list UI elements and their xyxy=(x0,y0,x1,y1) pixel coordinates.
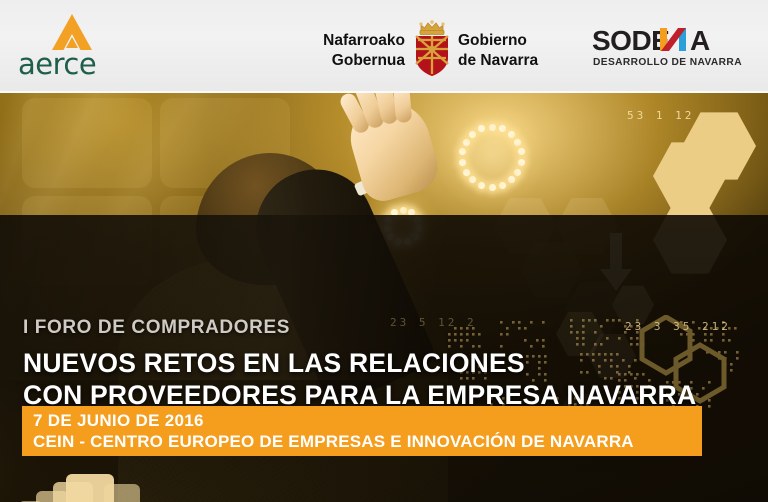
gn-basque-text: Nafarroako Gobernua xyxy=(313,31,405,71)
event-date: 7 DE JUNIO DE 2016 xyxy=(33,411,204,431)
navarra-coat-of-arms-icon xyxy=(410,18,454,76)
numbers-top: 53 1 12 xyxy=(627,109,694,122)
numbers-mid: 23 5 12 2 xyxy=(390,316,477,329)
glow-dot xyxy=(469,131,476,138)
aerce-wordmark: aerce xyxy=(18,47,128,81)
glow-dot xyxy=(463,169,470,176)
svg-text:SODE: SODE xyxy=(592,26,669,56)
glow-dot xyxy=(514,169,521,176)
glow-dot xyxy=(469,176,476,183)
event-details-banner: 7 DE JUNIO DE 2016 CEIN - CENTRO EUROPEO… xyxy=(22,406,702,456)
aerce-logo: aerce xyxy=(18,14,128,80)
glow-dot xyxy=(499,182,506,189)
poster-title: NUEVOS RETOS EN LAS RELACIONES CON PROVE… xyxy=(23,348,696,412)
glowing-dot-ring xyxy=(458,123,526,191)
gn-line2-right: de Navarra xyxy=(458,51,568,71)
sponsor-header: aerce Nafarroako Gobernua xyxy=(0,0,768,93)
sodena-logo: SODE A DESARROLLO DE NAVARRA xyxy=(592,26,744,74)
glow-dot xyxy=(459,148,466,155)
svg-text:A: A xyxy=(690,26,710,56)
gobierno-navarra-logo: Nafarroako Gobernua xyxy=(313,18,553,78)
crown xyxy=(419,20,444,34)
glow-dot xyxy=(459,159,466,166)
sodena-tagline: DESARROLLO DE NAVARRA xyxy=(593,57,745,68)
finger xyxy=(393,93,412,123)
poster-title-line1: NUEVOS RETOS EN LAS RELACIONES xyxy=(23,348,696,380)
glow-dot xyxy=(518,148,525,155)
glow-dot xyxy=(499,125,506,132)
glow-dot xyxy=(489,184,496,191)
glow-dot xyxy=(508,131,515,138)
glow-dot xyxy=(514,139,521,146)
gn-line1-right: Gobierno xyxy=(458,31,568,51)
aerce-triangle-icon xyxy=(52,14,92,50)
event-poster: 53 1 12 23 5 12 2 23 3 35 212 I FORO DE … xyxy=(0,0,768,502)
poster-photo: 53 1 12 23 5 12 2 23 3 35 212 I FORO DE … xyxy=(0,93,768,502)
speech-bubble xyxy=(104,484,140,502)
glow-dot xyxy=(478,182,485,189)
poster-kicker: I FORO DE COMPRADORES xyxy=(23,317,290,339)
glow-dot xyxy=(489,124,496,131)
glow-dot xyxy=(518,159,525,166)
gn-line2-left: Gobernua xyxy=(313,51,405,71)
event-venue: CEIN - CENTRO EUROPEO DE EMPRESAS E INNO… xyxy=(33,432,634,452)
glow-dot xyxy=(478,125,485,132)
gn-line1-left: Nafarroako xyxy=(313,31,405,51)
glow-dot xyxy=(463,139,470,146)
numbers-bottom: 23 3 35 212 xyxy=(625,320,731,333)
sodena-wordmark: SODE A xyxy=(592,26,744,56)
gn-spanish-text: Gobierno de Navarra xyxy=(458,31,568,71)
glow-dot xyxy=(508,176,515,183)
